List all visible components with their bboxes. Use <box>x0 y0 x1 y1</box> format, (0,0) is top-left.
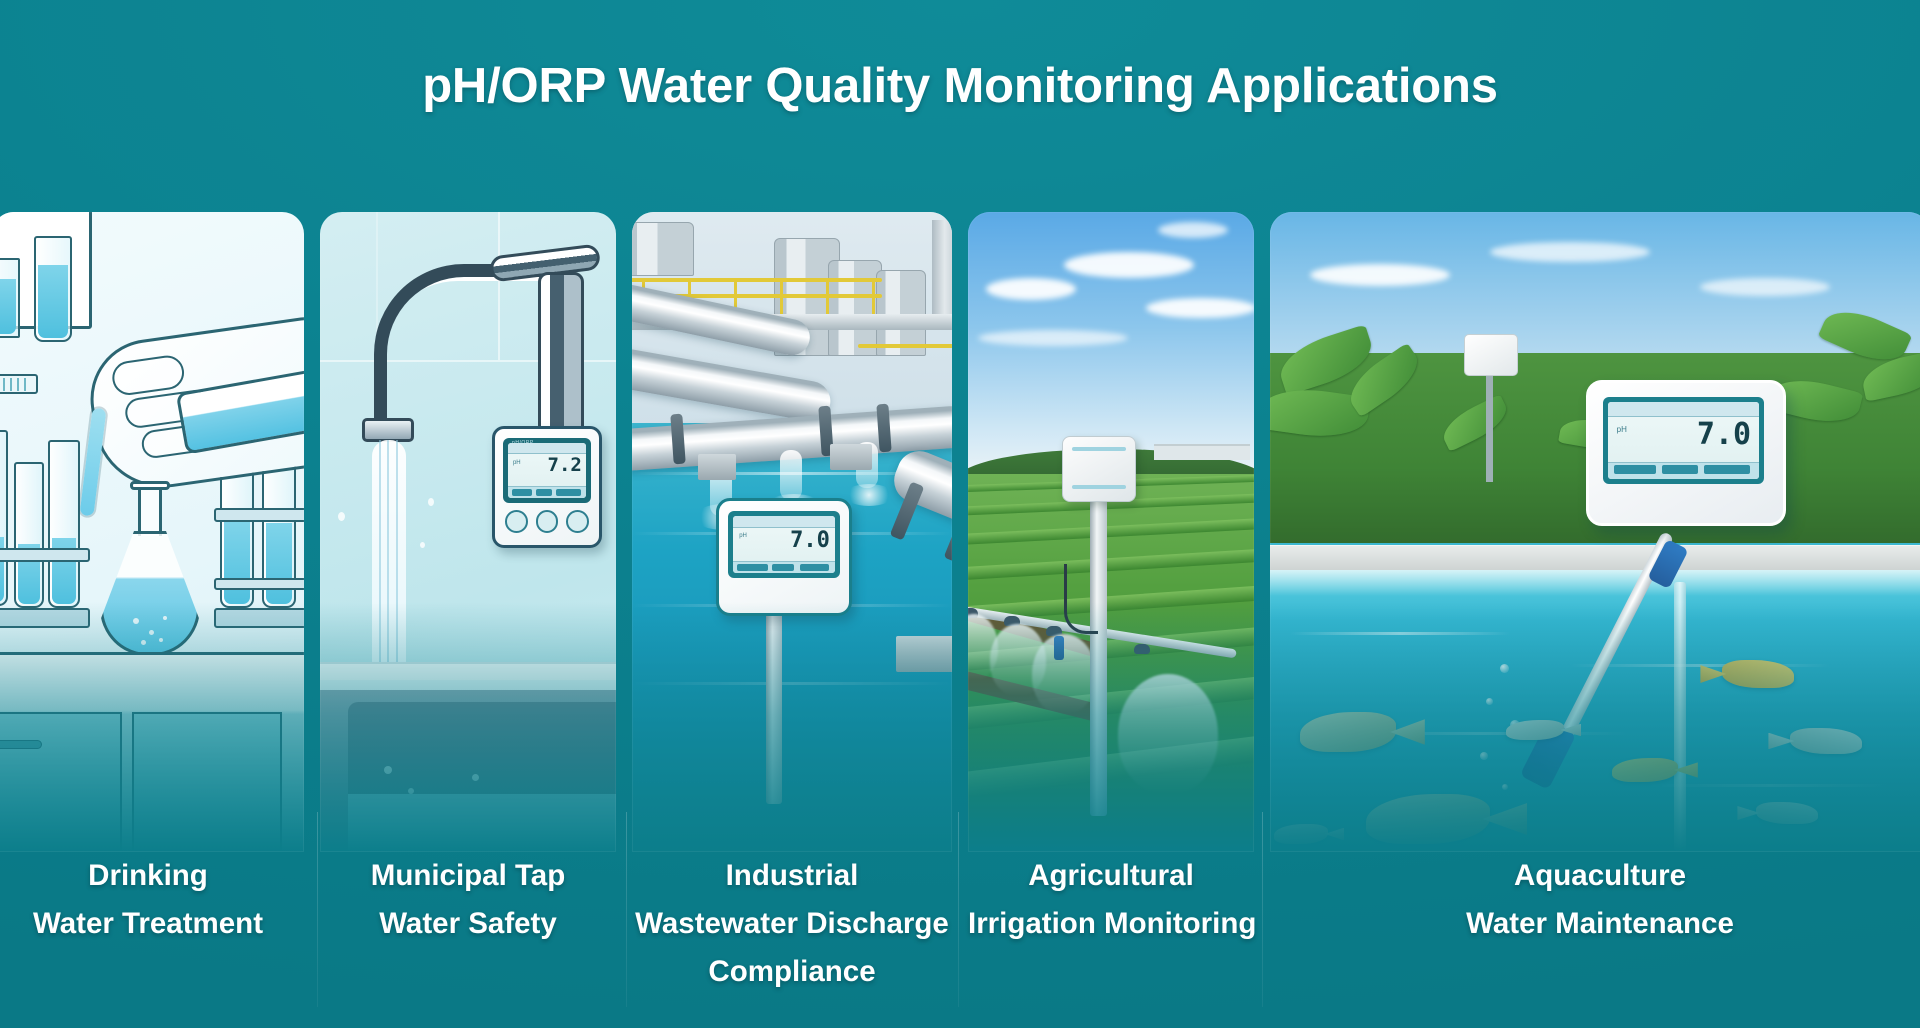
panel-agricultural-irrigation-monitoring[interactable] <box>968 212 1254 852</box>
test-strip-rack-icon <box>0 374 38 394</box>
plant-building <box>632 222 694 276</box>
analyzer-lcd-screen: pH 7.0 <box>733 516 835 573</box>
banner-canvas: pH/ORP Water Quality Monitoring Applicat… <box>0 0 1920 1028</box>
ph-sensor-probe <box>1054 636 1064 660</box>
industrial-plant-photo: pH 7.0 <box>632 212 952 852</box>
panel-strip: pH/ORP pH 7.2 <box>0 212 1920 852</box>
fish-icon <box>1722 660 1794 688</box>
faucet-column <box>538 272 584 440</box>
sensor-cable <box>1064 564 1098 634</box>
analyzer-reading-label: pH <box>739 533 747 539</box>
caption-line: Water Maintenance <box>1270 900 1920 948</box>
rack-base <box>0 608 90 628</box>
meter-bezel: pH/ORP pH 7.2 <box>503 438 590 503</box>
meter-button-cal[interactable] <box>536 510 559 533</box>
test-tube-icon <box>48 440 80 608</box>
sensor-box-pole <box>1486 372 1493 482</box>
water-surface-line <box>1270 570 1920 596</box>
rack-bar <box>214 508 304 522</box>
analyzer-mount-pole <box>766 604 782 804</box>
caption-municipal-tap-water-safety: Municipal Tap Water Safety <box>320 852 616 948</box>
water-discharge-jet <box>780 450 802 500</box>
faucet-arm <box>374 264 556 424</box>
rack-bar <box>0 548 90 562</box>
water-spray <box>1118 674 1218 794</box>
safety-railing <box>632 278 882 282</box>
panel-industrial-wastewater-discharge-compliance[interactable]: pH 7.0 <box>632 212 952 852</box>
sink-basin <box>348 702 616 852</box>
ph-orp-meter-device[interactable]: pH/ORP pH 7.2 <box>492 426 602 548</box>
water-spray <box>1032 634 1096 714</box>
caption-divider <box>958 812 959 1007</box>
controller-mast <box>1090 496 1107 816</box>
caption-line: Aquaculture <box>1270 852 1920 900</box>
panel-municipal-tap-water-safety[interactable]: pH/ORP pH 7.2 <box>320 212 616 852</box>
sink-water <box>348 794 616 852</box>
meter-lcd-screen: pH 7.2 <box>508 443 585 498</box>
meter-button-power[interactable] <box>566 510 589 533</box>
caption-row: Drinking Water Treatment Municipal Tap W… <box>0 852 1920 1028</box>
caption-line: Water Treatment <box>0 900 304 948</box>
erlenmeyer-flask-icon <box>100 484 200 656</box>
irrigation-field-photo <box>968 212 1254 852</box>
aquaculture-pond-photo: pH 7.0 <box>1270 212 1920 852</box>
farm-building <box>1154 444 1250 460</box>
cabinet-icon <box>0 712 122 852</box>
monitor-bezel: pH 7.0 <box>1603 397 1764 484</box>
fish-icon <box>1790 728 1862 754</box>
panel-aquaculture-water-maintenance[interactable]: pH 7.0 <box>1270 212 1920 852</box>
panel-drinking-water-treatment[interactable] <box>0 212 304 852</box>
cabinet-icon <box>132 712 282 852</box>
test-tube-icon <box>0 430 8 606</box>
caption-line: Industrial <box>632 852 952 900</box>
caption-divider <box>1262 812 1263 1007</box>
caption-agricultural-irrigation-monitoring: Agricultural Irrigation Monitoring <box>968 852 1254 948</box>
caption-line: Agricultural <box>968 852 1254 900</box>
rack-bar <box>214 578 304 590</box>
caption-drinking-water-treatment: Drinking Water Treatment <box>0 852 304 948</box>
test-tube-icon <box>14 462 44 608</box>
caption-industrial-wastewater-discharge-compliance: Industrial Wastewater Discharge Complian… <box>632 852 952 996</box>
caption-line: Municipal Tap <box>320 852 616 900</box>
caption-line: Water Safety <box>320 900 616 948</box>
caption-line: Irrigation Monitoring <box>968 900 1254 948</box>
rack-base <box>214 608 304 628</box>
page-title: pH/ORP Water Quality Monitoring Applicat… <box>0 58 1920 114</box>
caption-line: Wastewater Discharge <box>632 900 952 948</box>
caption-line: Drinking <box>0 852 304 900</box>
caption-aquaculture-water-maintenance: Aquaculture Water Maintenance <box>1270 852 1920 948</box>
monitor-reading-value: 7.0 <box>1697 420 1751 450</box>
caption-divider <box>626 812 627 1007</box>
wastewater-ph-orp-analyzer[interactable]: pH 7.0 <box>716 498 852 616</box>
monitor-reading-label: pH <box>1617 425 1627 434</box>
exhaust-stack <box>932 220 952 328</box>
analyzer-bezel: pH 7.0 <box>728 511 840 578</box>
monitor-lcd-screen: pH 7.0 <box>1608 402 1759 479</box>
graduated-cylinder-icon <box>34 236 72 342</box>
analyzer-reading-value: 7.0 <box>790 530 830 552</box>
irrigation-controller-enclosure[interactable] <box>1062 436 1136 502</box>
meter-reading-label: pH <box>513 460 521 466</box>
pond-ph-orp-monitor[interactable]: pH 7.0 <box>1586 380 1786 526</box>
fish-icon <box>1756 802 1818 824</box>
depth-gauge-post <box>1674 582 1686 852</box>
faucet-illustration: pH/ORP pH 7.2 <box>320 212 616 852</box>
caption-line: Compliance <box>632 948 952 996</box>
sprinkler-head-icon <box>1134 644 1150 654</box>
meter-reading-value: 7.2 <box>548 456 582 475</box>
lab-illustration <box>0 212 304 852</box>
faucet-aerator <box>362 418 414 442</box>
background-sensor-box[interactable] <box>1464 334 1518 376</box>
beaker-icon <box>0 258 20 338</box>
meter-button-row[interactable] <box>495 506 599 538</box>
meter-button-mode[interactable] <box>505 510 528 533</box>
caption-divider <box>317 812 318 1007</box>
